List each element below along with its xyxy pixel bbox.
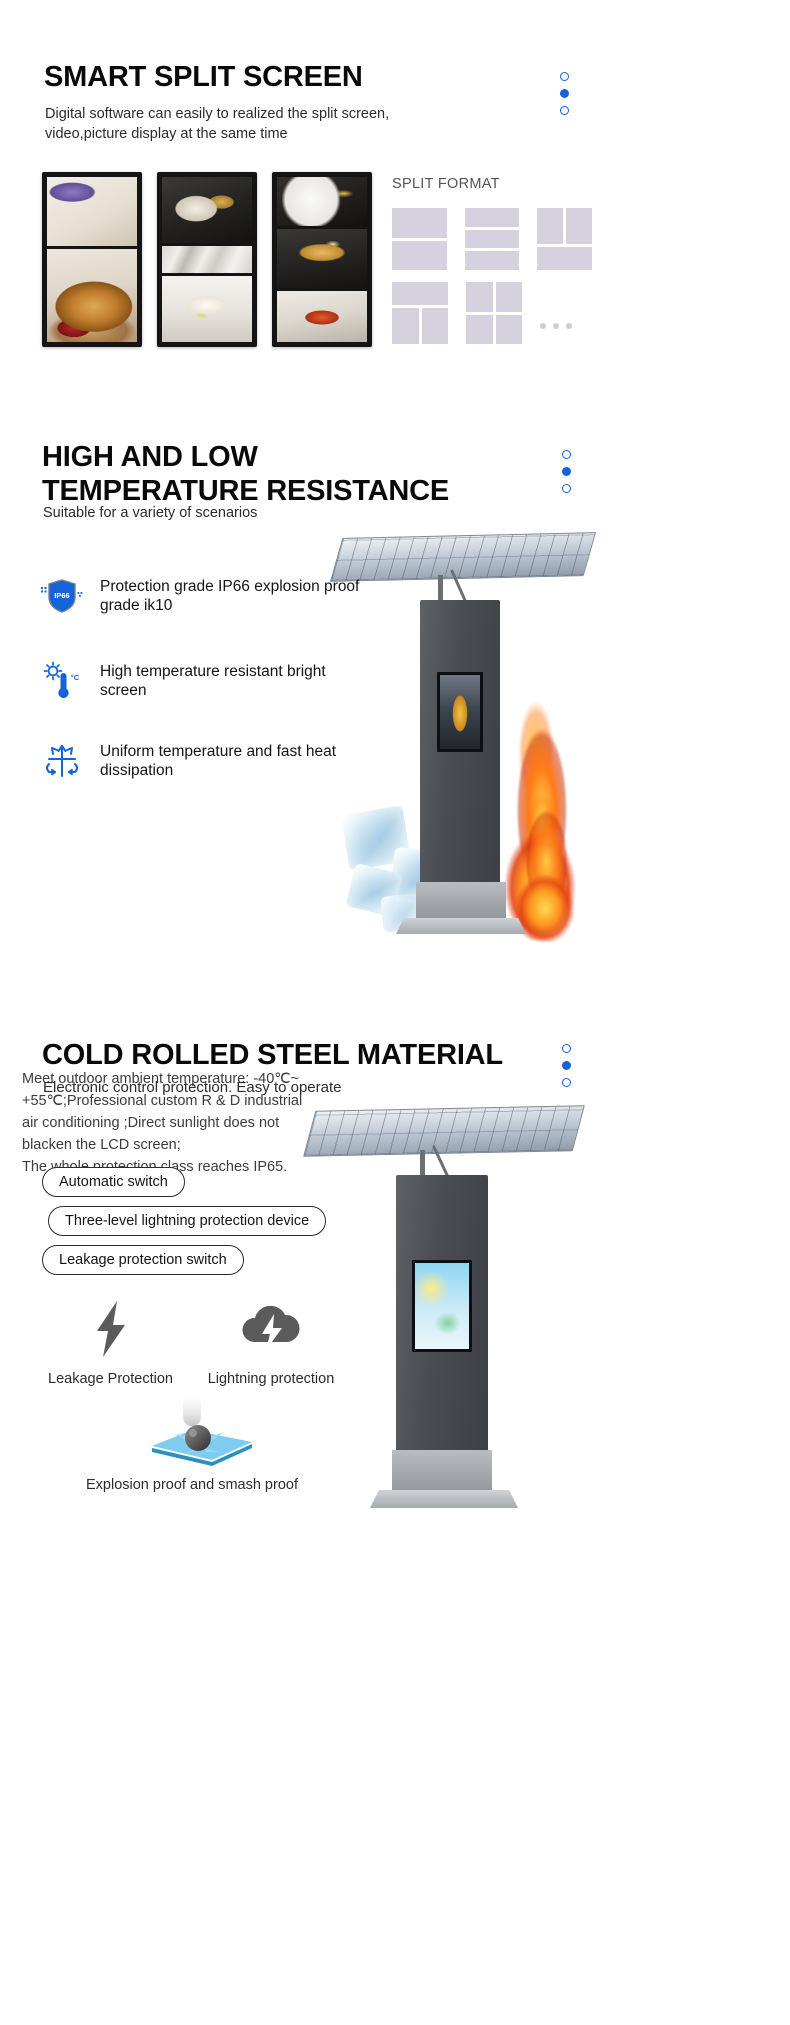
- pager-dots[interactable]: [562, 450, 571, 493]
- preview-cell-pancake-stack: [277, 229, 367, 288]
- section-temperature-resistance: HIGH AND LOW TEMPERATURE RESISTANCE Suit…: [0, 420, 790, 1020]
- section-subtitle: Electronic control protection. Easy to o…: [43, 1078, 342, 1099]
- layout-2-cols-top-1-row-bottom[interactable]: [537, 208, 592, 270]
- feature-text: High temperature resistant bright screen: [100, 660, 370, 701]
- kiosk-base: [416, 882, 506, 922]
- badge-label: Leakage Protection: [38, 1371, 183, 1387]
- section-smart-split-screen: SMART SPLIT SCREEN Digital software can …: [0, 0, 790, 420]
- preview-cell-lavender-book: [47, 177, 137, 246]
- pager-dot-1[interactable]: [560, 72, 569, 81]
- pager-dot-1[interactable]: [562, 1044, 571, 1053]
- pager-dot-2-active[interactable]: [560, 89, 569, 98]
- preview-screen-3[interactable]: [272, 172, 372, 347]
- layout-2-rows-horizontal[interactable]: [392, 208, 447, 270]
- svg-text:IP66: IP66: [54, 591, 69, 600]
- split-format-grid: [392, 208, 592, 356]
- kiosk-floor-plate: [370, 1490, 518, 1508]
- feature-item-ip66: IP66 Protection grade IP66 explosion pro…: [40, 575, 370, 617]
- feature-item-high-temp: °C High temperature resistant bright scr…: [40, 660, 370, 702]
- lightning-bolt-icon: [81, 1298, 141, 1360]
- storm-cloud-icon: [236, 1298, 306, 1360]
- preview-screens: [42, 172, 372, 347]
- layout-3-rows-horizontal[interactable]: [465, 208, 520, 270]
- badge-label: Explosion proof and smash proof: [72, 1477, 312, 1493]
- kiosk-display: [412, 1260, 472, 1352]
- pager-dot-2-active[interactable]: [562, 467, 571, 476]
- section-cold-rolled-steel: COLD ROLLED STEEL MATERIAL Electronic co…: [0, 1020, 790, 2025]
- pager-dot-1[interactable]: [562, 450, 571, 459]
- pill-leakage-protection-switch[interactable]: Leakage protection switch: [42, 1245, 244, 1275]
- preview-cell-eggs-macaron: [277, 177, 367, 226]
- section-title-line1: HIGH AND LOW: [42, 441, 258, 473]
- layout-1-row-top-2-cols-bottom[interactable]: [392, 282, 448, 344]
- pill-automatic-switch[interactable]: Automatic switch: [42, 1167, 185, 1197]
- preview-cell-shakshuka: [277, 291, 367, 342]
- split-format-row-1: [392, 208, 592, 270]
- badge-leakage-protection: Leakage Protection: [38, 1298, 183, 1387]
- page-title: SMART SPLIT SCREEN: [44, 60, 363, 94]
- section-title: HIGH AND LOW TEMPERATURE RESISTANCE: [42, 440, 462, 508]
- split-format-label: SPLIT FORMAT: [392, 176, 500, 192]
- kiosk-display: [437, 672, 483, 752]
- sun-thermometer-icon: °C: [40, 660, 84, 702]
- preview-cell-cereal-bowl: [162, 177, 252, 243]
- layout-2x2-quad[interactable]: [466, 282, 522, 344]
- feature-text: Uniform temperature and fast heat dissip…: [100, 740, 370, 781]
- badge-explosion-proof: Explosion proof and smash proof: [72, 1390, 312, 1493]
- preview-screen-2[interactable]: [157, 172, 257, 347]
- section-subtitle: Suitable for a variety of scenarios: [43, 503, 257, 523]
- preview-cell-croissant-plate: [47, 249, 137, 342]
- pill-three-level-lightning-protection[interactable]: Three-level lightning protection device: [48, 1206, 326, 1236]
- more-layouts-ellipsis-icon: [540, 297, 572, 329]
- preview-screen-1[interactable]: [42, 172, 142, 347]
- preview-cell-cutlery: [162, 246, 252, 274]
- display-content-beer-ad: [440, 675, 480, 749]
- display-content-cartoon-ad: [415, 1263, 469, 1349]
- kiosk-floor-plate: [396, 918, 526, 934]
- feature-item-heat-dissipation: Uniform temperature and fast heat dissip…: [40, 740, 370, 782]
- split-format-row-2: [392, 282, 592, 344]
- solar-panel: [303, 1105, 585, 1157]
- feature-text: Protection grade IP66 explosion proof gr…: [100, 575, 370, 616]
- shield-ip66-icon: IP66: [40, 575, 84, 617]
- impact-ball-glass-icon: [112, 1390, 272, 1466]
- pager-dot-3[interactable]: [562, 1078, 571, 1087]
- preview-cell-yogurt-dessert: [162, 276, 252, 342]
- svg-text:°C: °C: [71, 673, 80, 682]
- pager-dot-3[interactable]: [562, 484, 571, 493]
- badge-label: Lightning protection: [196, 1371, 346, 1387]
- badge-lightning-protection: Lightning protection: [196, 1298, 346, 1387]
- section-subtitle: Digital software can easily to realized …: [45, 104, 405, 144]
- pager-dots[interactable]: [562, 1044, 571, 1087]
- heat-dissipation-arrows-icon: [40, 740, 84, 782]
- pager-dot-2-active[interactable]: [562, 1061, 571, 1070]
- section-title: COLD ROLLED STEEL MATERIAL: [42, 1038, 503, 1072]
- pager-dot-3[interactable]: [560, 106, 569, 115]
- pager-dots[interactable]: [560, 72, 569, 115]
